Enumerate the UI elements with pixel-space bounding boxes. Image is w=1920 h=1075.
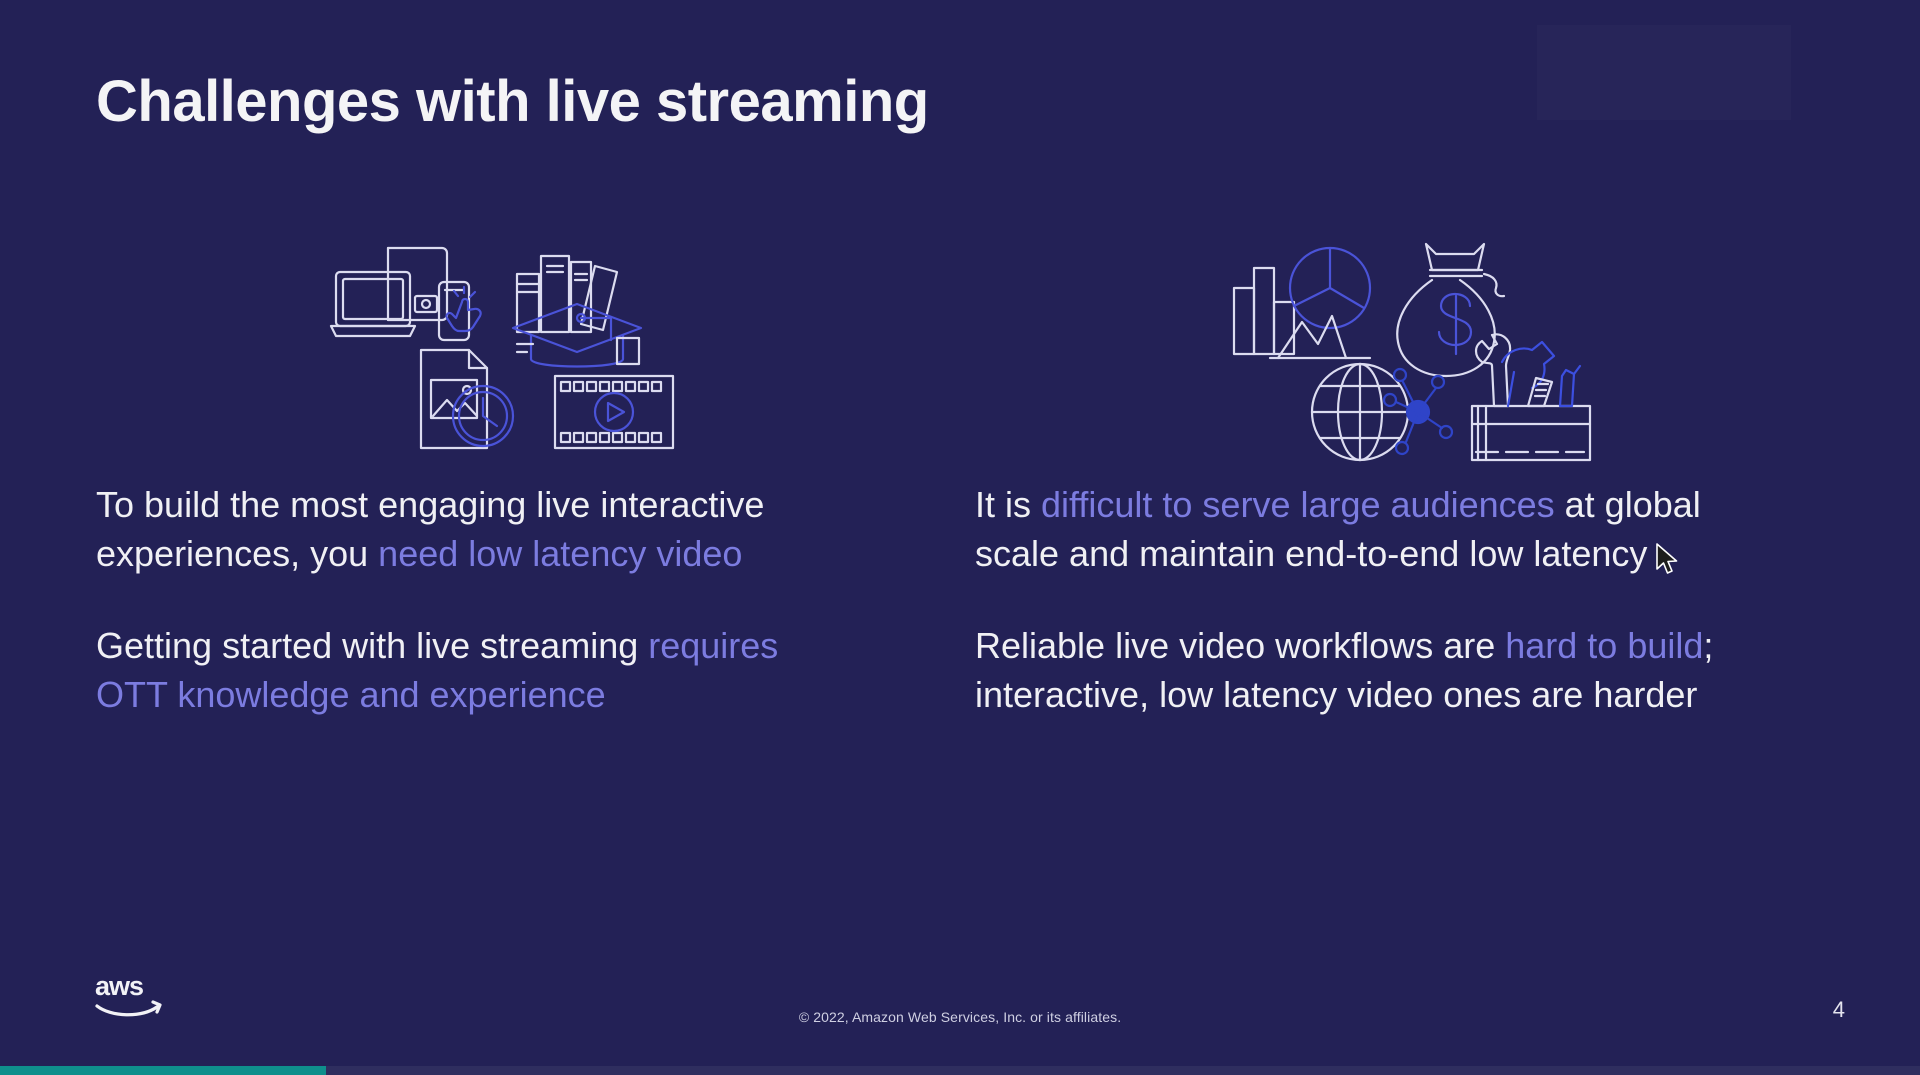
right-illustration	[975, 230, 1815, 480]
progress-fill	[0, 1066, 326, 1075]
webcam-icon	[415, 296, 437, 312]
right-column: It is difficult to serve large audiences…	[975, 230, 1815, 761]
page-title: Challenges with live streaming	[96, 68, 929, 135]
dollar-sign-icon	[1439, 294, 1471, 354]
left-p1-seg2-highlight: need low latency video	[378, 533, 742, 574]
left-paragraph-2: Getting started with live streaming requ…	[96, 621, 796, 720]
laptop-icon	[331, 272, 415, 336]
right-p1-seg1: It is	[975, 484, 1041, 525]
page-number: 4	[1833, 997, 1845, 1023]
document-image-icon	[421, 350, 487, 448]
left-paragraph-1: To build the most engaging live interact…	[96, 480, 796, 579]
copyright-text: © 2022, Amazon Web Services, Inc. or its…	[0, 1009, 1920, 1025]
left-column: To build the most engaging live interact…	[96, 230, 896, 761]
right-paragraph-2: Reliable live video workflows are hard t…	[975, 621, 1715, 720]
tap-hand-icon	[446, 287, 480, 331]
graduation-cap-icon	[513, 304, 641, 367]
right-p2-seg1: Reliable live video workflows are	[975, 625, 1505, 666]
right-paragraph-1: It is difficult to serve large audiences…	[975, 480, 1715, 579]
left-illustration	[96, 230, 896, 480]
svg-text:aws: aws	[95, 971, 143, 1001]
bar-chart-icon	[1234, 268, 1294, 354]
background-overlay-block	[1537, 25, 1791, 120]
right-p2-seg2-highlight: hard to build	[1505, 625, 1703, 666]
left-p2-seg1: Getting started with live streaming	[96, 625, 648, 666]
right-p1-seg2-highlight: difficult to serve large audiences	[1041, 484, 1555, 525]
area-chart-icon	[1270, 316, 1370, 358]
globe-icon	[1312, 364, 1408, 460]
toolbox-icon	[1472, 406, 1590, 460]
pie-chart-icon	[1290, 248, 1370, 328]
pliers-icon	[1560, 366, 1580, 406]
clock-icon	[453, 386, 513, 446]
slide-canvas: Challenges with live streaming	[0, 0, 1920, 1075]
presentation-progress-bar[interactable]	[0, 1066, 1920, 1075]
money-bag-icon	[1397, 244, 1504, 376]
film-strip-play-icon	[555, 376, 673, 448]
